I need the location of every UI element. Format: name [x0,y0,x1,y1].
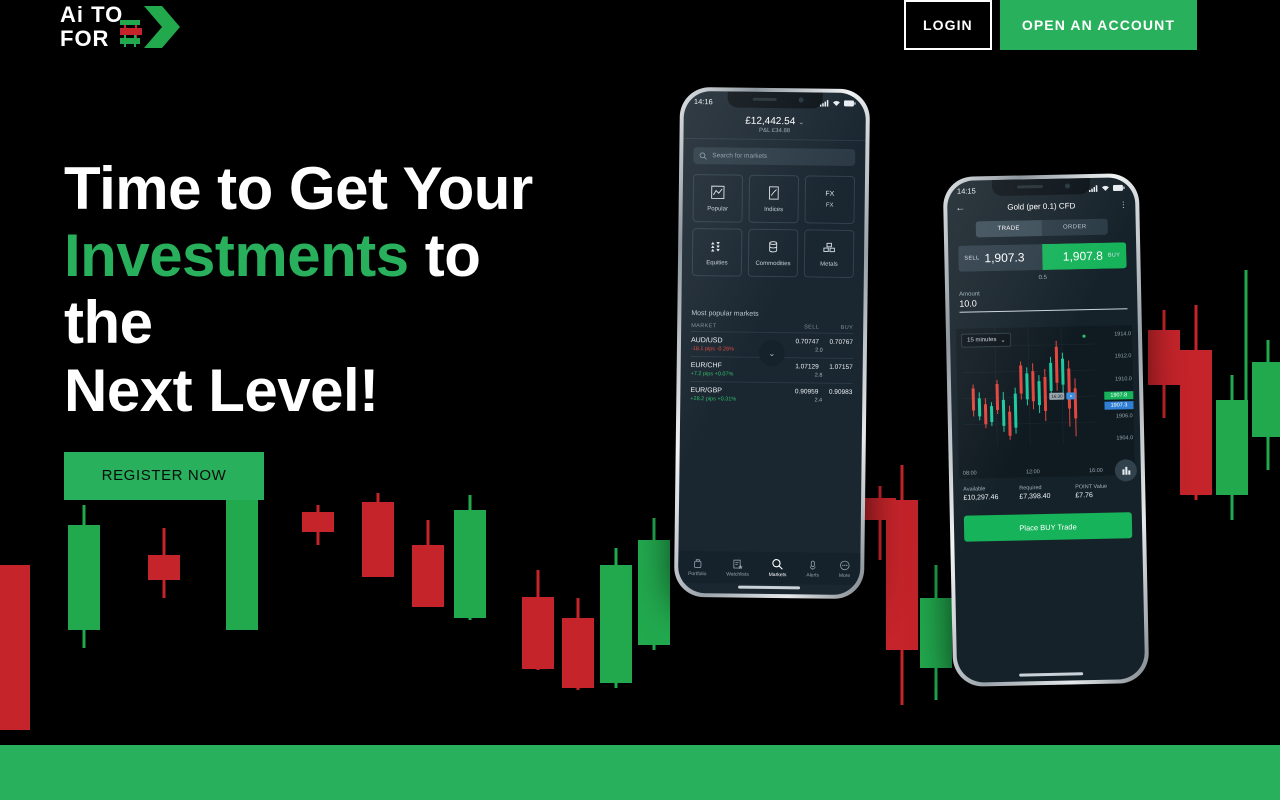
info-caption: Available [963,486,1019,493]
phone1-statusbar: 14:16 [684,94,866,110]
market-category-grid: Popular Indices FX FX Equities [692,174,855,278]
nav-label: Watchlists [726,571,749,577]
login-button[interactable]: LOGIN [904,0,992,50]
battery-icon [844,99,856,106]
category-label: FX [826,203,834,209]
register-now-button[interactable]: REGISTER NOW [64,452,264,500]
metals-icon [822,240,836,256]
tab-order[interactable]: ORDER [1042,219,1108,236]
market-sell-price: 0.70747 [785,338,819,345]
trend-icon [767,185,781,201]
nav-item-markets[interactable]: Markets [769,558,787,578]
y-tick: 1914.0 [1114,331,1131,337]
y-tick: 1910.0 [1115,376,1132,382]
nav-label: Markets [769,572,787,578]
category-fx[interactable]: FX FX [804,175,855,224]
buy-label: BUY [1108,252,1121,258]
phone-mockup-markets: 14:16 £12,442.54⌄ P&L £34.88 Search for … [674,87,870,599]
y-tick: 1912.0 [1115,353,1132,359]
chart-type-button[interactable] [1115,459,1137,481]
tab-trade[interactable]: TRADE [976,220,1042,237]
search-icon [772,558,784,570]
wifi-icon [1101,184,1110,191]
info-caption: Required [1019,484,1075,491]
chart-y-axis: 1914.0 1912.0 1910.0 1907.8 1907.3 1906.… [1102,325,1135,460]
x-tick: 16:00 [1089,468,1103,474]
search-icon [699,152,707,160]
category-commodities[interactable]: Commodities [748,229,799,278]
y-tick: 1906.0 [1116,413,1133,419]
x-tick: 12:00 [1026,469,1040,475]
bell-icon [807,559,818,570]
signal-icon [1089,184,1098,191]
phone-mockup-trade-ticket: 14:15 ← Gold (per 0.1) CFD ⋮ TRADE ORDER [943,173,1150,687]
chart-x-axis: 08:00 12:00 16:00 [963,468,1103,477]
buy-price-badge: 1907.8 [1104,391,1133,400]
buy-button[interactable]: 1,907.8 BUY [1042,242,1127,270]
search-input[interactable]: Search for markets [693,147,855,166]
column-market: MARKET [691,323,785,330]
headline-line-3: the [64,289,153,356]
nav-label: More [839,572,850,578]
hero-section: Time to Get Your Investments to the Next… [64,155,624,500]
page-title: Time to Get Your Investments to the Next… [64,155,624,424]
column-sell: SELL [785,324,819,330]
svg-text:FOR: FOR [60,26,109,51]
timeframe-label: 15 minutes [967,337,996,344]
more-icon [839,559,850,570]
headline-highlight: Investments [64,222,409,289]
chevron-down-icon[interactable]: ⌄ [798,119,804,126]
phone1-pnl: P&L £34.88 [684,127,866,135]
trade-order-tabs: TRADE ORDER [976,219,1108,238]
info-value: £10,297.46 [963,494,1019,502]
open-account-button[interactable]: OPEN AN ACCOUNT [1000,0,1197,50]
y-tick: 1904.0 [1116,435,1133,441]
instrument-title: Gold (per 0.1) CFD [969,201,1113,213]
nav-item-more[interactable]: More [839,559,851,578]
headline-line-1: Time to Get Your [64,155,533,222]
info-caption: POINT Value [1075,483,1131,490]
bar-chart-icon [1120,465,1131,476]
trade-header: ← Gold (per 0.1) CFD ⋮ [947,195,1135,220]
category-metals[interactable]: Metals [804,229,855,278]
market-sell-price: 0.90959 [784,388,818,395]
home-indicator [1019,672,1083,676]
close-icon[interactable]: × [1066,392,1075,399]
market-change: +28.2 pips +0.31% [690,396,784,403]
signal-icon [820,99,829,106]
back-arrow-icon[interactable]: ← [955,203,969,214]
markets-table-header: MARKET SELL BUY [691,323,853,331]
chevron-down-icon: ⌄ [1000,336,1005,343]
column-buy: BUY [819,325,853,331]
x-tick: 08:00 [963,470,977,476]
category-indices[interactable]: Indices [748,175,799,224]
landing-page: Ai TO FOR LOGIN OPEN AN ACCOUNT Time to … [0,0,1280,800]
bottom-navigation: Portfolio Watchlists Markets Alerts [678,551,860,585]
category-label: Popular [707,206,728,212]
wifi-icon [832,99,841,106]
chart-icon [711,185,725,201]
header-actions: LOGIN OPEN AN ACCOUNT [904,0,1197,50]
watchlist-icon [732,558,743,569]
phone1-time: 14:16 [694,97,713,106]
market-spread: 2.0 [785,347,853,354]
nav-item-watchlists[interactable]: Watchlists [726,558,749,577]
nav-label: Alerts [806,572,819,578]
table-row[interactable]: EUR/GBP 0.90959 0.90983 +28.2 pips +0.31… [690,381,852,408]
nav-item-portfolio[interactable]: Portfolio [688,557,707,576]
category-label: Commodities [755,260,790,266]
sell-button[interactable]: SELL 1,907.3 [958,244,1043,272]
sell-price: 1,907.3 [984,250,1024,265]
scroll-down-button[interactable]: ⌄ [759,340,785,366]
info-available: Available £10,297.46 [963,486,1019,502]
headline-line-4: Next Level! [64,357,379,424]
market-sell-price: 1.07129 [785,363,819,370]
barrel-icon [766,239,780,255]
market-buy-price: 0.70767 [819,339,853,346]
market-change: +7.2 pips +0.07% [691,371,785,378]
fx-icon: FX [825,191,834,198]
price-chart[interactable]: 15 minutes ⌄ [956,325,1135,479]
bottom-green-band [0,745,1280,800]
place-buy-trade-button[interactable]: Place BUY Trade [964,512,1133,542]
tooltip-time: 16:30 [1049,393,1064,400]
battery-icon [1113,184,1125,191]
market-spread: 2.4 [784,397,852,404]
amount-value: 10.0 [959,295,1127,309]
category-popular[interactable]: Popular [692,174,743,223]
info-value: £7,398.40 [1019,492,1075,500]
site-header: Ai TO FOR LOGIN OPEN AN ACCOUNT [0,0,1280,52]
sell-label: SELL [964,255,979,261]
timeframe-selector[interactable]: 15 minutes ⌄ [961,333,1012,348]
category-equities[interactable]: Equities [692,228,743,277]
market-spread: 2.8 [785,372,853,379]
search-placeholder-text: Search for markets [712,152,767,160]
amount-underline [960,308,1128,313]
chart-tooltip[interactable]: 16:30 × [1049,392,1075,400]
info-point-value: POINT Value £7.76 [1075,483,1131,499]
market-buy-price: 1.07157 [819,364,853,371]
section-title-popular-markets: Most popular markets [691,310,853,319]
info-required: Required £7,398.40 [1019,484,1075,500]
market-symbol: EUR/GBP [690,387,784,395]
buy-price: 1,907.8 [1063,249,1103,264]
amount-field[interactable]: Amount 10.0 [959,288,1127,313]
nav-item-alerts[interactable]: Alerts [806,559,819,578]
phone2-time: 14:15 [957,186,976,195]
home-indicator [738,586,800,590]
market-buy-price: 0.90983 [818,389,852,396]
category-label: Equities [706,260,727,266]
brand-logo[interactable]: Ai TO FOR [58,2,190,52]
equities-icon [710,239,724,255]
svg-text:Ai TO: Ai TO [60,2,123,27]
portfolio-icon [692,558,703,569]
phone1-balance-block[interactable]: £12,442.54⌄ P&L £34.88 [683,109,865,140]
deal-ticket-prices: SELL 1,907.3 1,907.8 BUY [958,242,1127,272]
category-label: Indices [764,206,783,212]
spread-value: 0.5 [949,273,1137,283]
sell-price-badge: 1907.3 [1104,401,1133,410]
phone1-balance-amount: £12,442.54 [745,116,795,128]
trade-info-row: Available £10,297.46 Required £7,398.40 … [963,483,1131,502]
info-value: £7.76 [1075,491,1131,499]
kebab-menu-icon[interactable]: ⋮ [1113,200,1127,209]
nav-label: Portfolio [688,570,706,576]
category-label: Metals [820,261,838,267]
headline-line-2-rest: to [409,222,481,289]
